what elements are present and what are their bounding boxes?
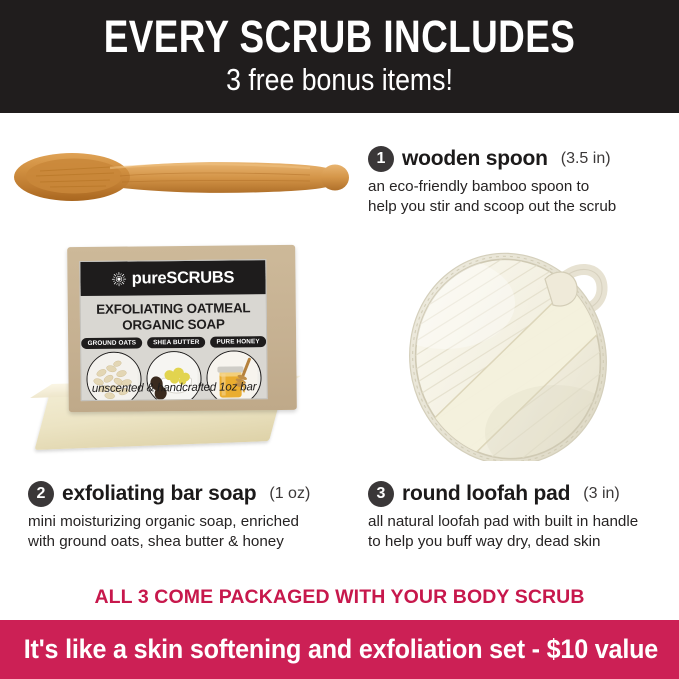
soap-label-headline-line-2: ORGANIC SOAP (81, 316, 266, 334)
ingredient-pill-ground-oats: GROUND OATS (82, 337, 143, 349)
item-2-quantity: (1 oz) (269, 485, 310, 503)
soap-label-footer: unscented & handcrafted 1oz bar (82, 380, 267, 395)
value-banner: It's like a skin softening and exfoliati… (0, 620, 679, 679)
item-3-description: all natural loofah pad with built in han… (368, 512, 638, 552)
ingredient-pill-pure-honey: PURE HONEY (210, 336, 265, 348)
wooden-spoon-image (10, 143, 350, 211)
item-1-description-line-2: help you stir and scoop out the scrub (368, 197, 616, 217)
loofah-pad-image (405, 243, 640, 461)
item-3-quantity: (3 in) (583, 485, 619, 503)
item-3-description-line-1: all natural loofah pad with built in han… (368, 512, 638, 532)
item-3-number-badge: 3 (368, 481, 394, 507)
promo-graphic: EVERY SCRUB INCLUDES 3 free bonus items! (0, 0, 679, 679)
item-3-description-line-2: to help you buff way dry, dead skin (368, 532, 638, 552)
item-2-description-line-1: mini moisturizing organic soap, enriched (28, 512, 310, 532)
item-1-description-line-1: an eco-friendly bamboo spoon to (368, 177, 616, 197)
item-2-block: 2 exfoliating bar soap (1 oz) mini moist… (28, 481, 310, 552)
header-title: EVERY SCRUB INCLUDES (61, 12, 618, 62)
item-2-number-badge: 2 (28, 481, 54, 507)
bar-soap-image: pureSCRUBS EXFOLIATING OATMEAL ORGANIC S… (46, 242, 311, 462)
mandala-logo-icon (112, 271, 127, 286)
packaged-note: ALL 3 COME PACKAGED WITH YOUR BODY SCRUB (0, 586, 679, 609)
item-3-heading: 3 round loofah pad (3 in) (368, 481, 638, 507)
header-banner: EVERY SCRUB INCLUDES 3 free bonus items! (0, 0, 679, 113)
soap-label-brand-bar: pureSCRUBS (80, 260, 265, 296)
item-1-block: 1 wooden spoon (3.5 in) an eco-friendly … (368, 146, 616, 217)
soap-label-card: pureSCRUBS EXFOLIATING OATMEAL ORGANIC S… (79, 259, 267, 401)
soap-label-headline-line-1: EXFOLIATING OATMEAL (81, 300, 266, 318)
ingredient-pill-shea-butter: SHEA BUTTER (147, 337, 205, 349)
soap-brand-name: pureSCRUBS (132, 269, 235, 287)
item-1-title: wooden spoon (402, 147, 548, 171)
soap-kraft-wrapper: pureSCRUBS EXFOLIATING OATMEAL ORGANIC S… (67, 245, 297, 412)
header-subtitle: 3 free bonus items! (48, 62, 632, 98)
item-1-description: an eco-friendly bamboo spoon to help you… (368, 177, 616, 217)
item-2-title: exfoliating bar soap (62, 482, 256, 506)
value-banner-text: It's like a skin softening and exfoliati… (24, 634, 655, 665)
item-2-heading: 2 exfoliating bar soap (1 oz) (28, 481, 310, 507)
item-3-title: round loofah pad (402, 482, 570, 506)
item-1-quantity: (3.5 in) (561, 150, 611, 168)
item-2-description: mini moisturizing organic soap, enriched… (28, 512, 310, 552)
item-3-block: 3 round loofah pad (3 in) all natural lo… (368, 481, 638, 552)
soap-ingredient-pills: GROUND OATS SHEA BUTTER PURE HONEY (81, 336, 266, 349)
item-1-heading: 1 wooden spoon (3.5 in) (368, 146, 616, 172)
item-2-description-line-2: with ground oats, shea butter & honey (28, 532, 310, 552)
item-1-number-badge: 1 (368, 146, 394, 172)
soap-label-headline: EXFOLIATING OATMEAL ORGANIC SOAP (81, 300, 266, 334)
